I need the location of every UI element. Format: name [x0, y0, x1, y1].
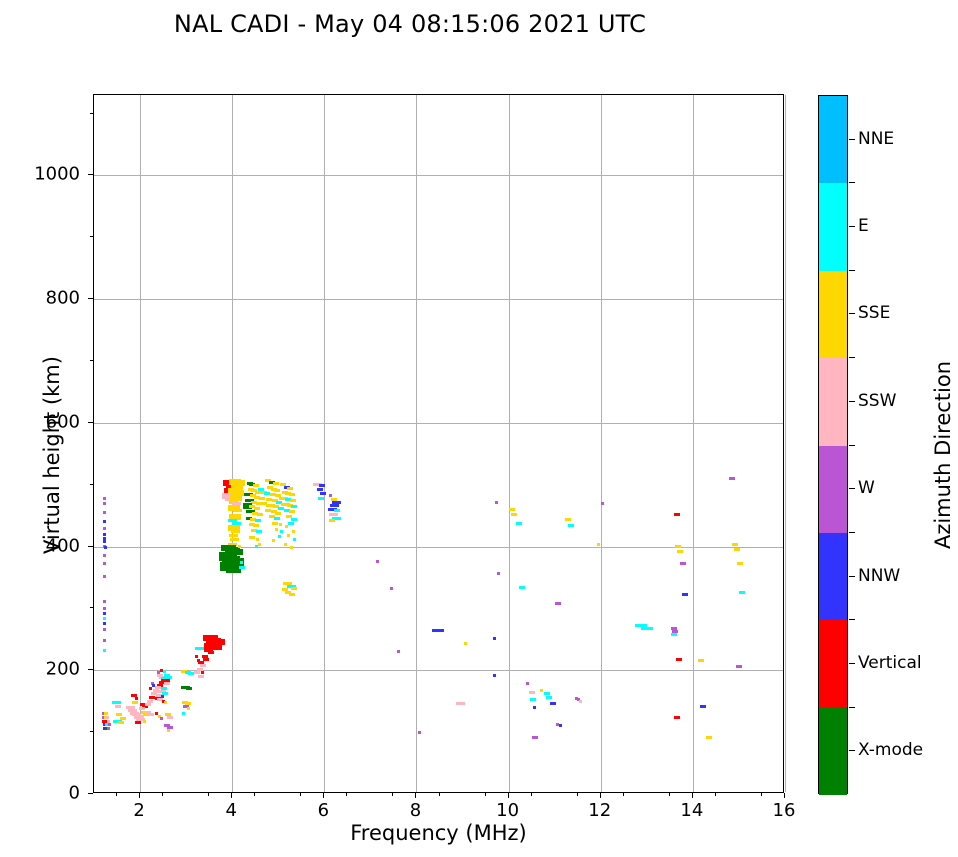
echo-marker — [203, 658, 209, 661]
page-title: NAL CADI - May 04 08:15:06 2021 UTC — [0, 10, 820, 38]
echo-marker — [197, 668, 203, 671]
echo-marker — [700, 705, 706, 708]
colorbar-tick — [849, 226, 855, 227]
echo-marker — [732, 543, 738, 546]
echo-marker — [706, 736, 712, 739]
echo-marker — [540, 689, 543, 692]
echo-marker — [680, 562, 686, 565]
x-axis-minor-tick — [623, 793, 624, 796]
x-axis-tick-label: 10 — [496, 800, 519, 821]
echo-marker — [103, 533, 106, 536]
x-axis-minor-tick — [254, 793, 255, 796]
x-axis-minor-tick — [439, 793, 440, 796]
echo-marker — [291, 518, 297, 521]
echo-marker — [106, 716, 109, 719]
echo-marker — [289, 593, 295, 596]
echo-marker — [376, 560, 379, 563]
echo-marker — [544, 692, 550, 695]
data-layer — [94, 95, 783, 792]
echo-marker — [278, 507, 284, 510]
echo-marker — [240, 561, 243, 564]
y-axis-tick — [88, 546, 93, 547]
colorbar-label-x-mode: X-mode — [858, 740, 923, 760]
y-axis-minor-tick — [90, 360, 93, 361]
echo-marker — [330, 504, 339, 507]
echo-marker — [278, 535, 281, 538]
echo-marker — [103, 622, 106, 625]
colorbar-boundary-tick — [849, 445, 855, 446]
echo-marker — [149, 687, 152, 690]
echo-marker — [464, 642, 467, 645]
echo-marker — [601, 502, 604, 505]
echo-marker — [432, 629, 444, 632]
echo-marker — [332, 501, 341, 504]
echo-marker — [671, 627, 677, 630]
echo-marker — [253, 484, 259, 487]
x-axis-tick-label: 14 — [680, 800, 703, 821]
echo-marker — [103, 537, 106, 543]
echo-marker — [259, 497, 265, 500]
echo-marker — [103, 497, 106, 500]
echo-marker — [284, 543, 287, 546]
colorbar-segment-x-mode — [819, 708, 847, 795]
y-axis-minor-tick — [90, 731, 93, 732]
colorbar-tick — [849, 663, 855, 664]
x-axis-minor-tick — [715, 793, 716, 796]
y-axis-minor-tick — [90, 236, 93, 237]
echo-marker — [256, 538, 259, 541]
echo-marker — [546, 696, 552, 699]
colorbar-tick — [849, 313, 855, 314]
echo-marker — [509, 508, 515, 511]
y-axis-tick — [88, 298, 93, 299]
colorbar-boundary-tick — [849, 270, 855, 271]
echo-marker — [565, 518, 571, 521]
echo-marker — [493, 637, 496, 640]
echo-marker — [249, 536, 255, 539]
echo-marker — [103, 502, 106, 505]
x-axis-tick — [508, 793, 509, 798]
echo-marker — [167, 726, 173, 729]
echo-marker — [138, 715, 144, 718]
x-axis-tick — [139, 793, 140, 798]
echo-marker — [293, 538, 296, 541]
echo-marker — [397, 650, 400, 653]
echo-marker — [163, 670, 166, 673]
x-axis-minor-tick — [761, 793, 762, 796]
echo-marker — [107, 720, 110, 723]
colorbar-tick — [849, 401, 855, 402]
echo-marker — [103, 575, 106, 578]
echo-marker — [255, 545, 258, 548]
x-axis-title: Frequency (MHz) — [93, 821, 784, 845]
echo-marker — [287, 487, 293, 490]
colorbar-label-vertical: Vertical — [858, 653, 922, 673]
y-axis-minor-tick — [90, 484, 93, 485]
echo-marker — [143, 720, 146, 723]
y-axis-title: Virtual height (km) — [40, 285, 64, 625]
echo-marker — [318, 497, 324, 500]
echo-marker — [115, 705, 121, 708]
colorbar-label-ssw: SSW — [858, 391, 896, 411]
x-axis-tick — [415, 793, 416, 798]
echo-marker — [597, 543, 600, 546]
y-axis-tick-label: 200 — [0, 659, 80, 680]
echo-marker — [739, 591, 745, 594]
colorbar — [818, 95, 848, 794]
echo-marker — [579, 700, 582, 703]
echo-marker — [195, 647, 204, 650]
echo-marker — [290, 499, 296, 502]
x-axis-minor-tick — [669, 793, 670, 796]
echo-marker — [164, 682, 170, 685]
y-axis-tick — [88, 793, 93, 794]
echo-marker — [320, 492, 326, 495]
echo-marker — [329, 519, 335, 522]
echo-marker — [238, 545, 241, 548]
x-axis-tick — [784, 793, 785, 798]
y-axis-tick — [88, 422, 93, 423]
echo-marker — [167, 716, 173, 719]
colorbar-tick — [849, 139, 855, 140]
echo-marker — [274, 517, 280, 520]
echo-marker — [288, 522, 294, 525]
echo-marker — [195, 655, 198, 658]
echo-marker — [107, 727, 110, 730]
echo-marker — [103, 527, 106, 530]
colorbar-tick — [849, 488, 855, 489]
colorbar-title: Azimuth Direction — [931, 285, 955, 625]
colorbar-segment-nne — [819, 96, 847, 183]
colorbar-boundary-tick — [849, 532, 855, 533]
echo-marker — [256, 530, 262, 533]
echo-marker — [418, 731, 421, 734]
echo-marker — [239, 566, 245, 569]
echo-marker — [698, 659, 704, 662]
echo-marker — [290, 546, 293, 549]
echo-marker — [530, 698, 536, 701]
echo-marker — [104, 546, 107, 549]
x-axis-tick-label: 16 — [773, 800, 796, 821]
echo-marker — [254, 507, 260, 510]
echo-marker — [334, 509, 340, 512]
echo-marker — [274, 489, 280, 492]
echo-marker — [135, 697, 138, 700]
echo-marker — [519, 586, 525, 589]
colorbar-segment-e — [819, 183, 847, 270]
echo-marker — [676, 658, 682, 661]
echo-marker — [201, 671, 204, 674]
echo-marker — [329, 513, 338, 516]
colorbar-tick — [849, 750, 855, 751]
echo-marker — [532, 736, 538, 739]
x-axis-tick-label: 6 — [318, 800, 329, 821]
echo-marker — [105, 712, 108, 715]
echo-marker — [164, 701, 167, 704]
echo-marker — [187, 707, 190, 710]
x-axis-minor-tick — [116, 793, 117, 796]
echo-marker — [568, 524, 574, 527]
echo-marker — [253, 524, 259, 527]
echo-marker — [103, 562, 106, 565]
colorbar-label-nnw: NNW — [858, 566, 900, 586]
colorbar-segment-nnw — [819, 533, 847, 620]
colorbar-tick — [849, 576, 855, 577]
echo-marker — [188, 672, 194, 675]
y-axis-minor-tick — [90, 607, 93, 608]
echo-marker — [285, 525, 288, 528]
echo-marker — [289, 510, 295, 513]
echo-marker — [258, 543, 261, 546]
x-axis-minor-tick — [392, 793, 393, 796]
colorbar-boundary-tick — [849, 619, 855, 620]
x-axis-tick — [323, 793, 324, 798]
x-axis-minor-tick — [577, 793, 578, 796]
echo-marker — [677, 550, 683, 553]
echo-marker — [103, 607, 106, 610]
echo-marker — [533, 706, 536, 709]
echo-marker — [550, 702, 556, 705]
echo-marker — [272, 522, 278, 525]
x-axis-tick-label: 8 — [410, 800, 421, 821]
echo-marker — [200, 664, 206, 667]
x-axis-minor-tick — [346, 793, 347, 796]
echo-marker — [257, 513, 263, 516]
x-axis-minor-tick — [208, 793, 209, 796]
echo-marker — [675, 545, 681, 548]
echo-marker — [529, 691, 535, 694]
echo-marker — [287, 534, 290, 537]
echo-marker — [135, 721, 141, 724]
echo-marker — [272, 539, 275, 542]
echo-marker — [279, 523, 282, 526]
colorbar-label-nne: NNE — [858, 129, 894, 149]
echo-marker — [682, 593, 688, 596]
echo-marker — [116, 713, 122, 716]
x-axis-tick-label: 2 — [133, 800, 144, 821]
echo-marker — [641, 627, 653, 630]
y-axis-tick — [88, 174, 93, 175]
echo-marker — [132, 701, 138, 704]
gridline-vertical — [785, 95, 786, 792]
echo-marker — [103, 617, 106, 620]
x-axis-tick — [692, 793, 693, 798]
echo-marker — [186, 687, 192, 690]
x-axis-minor-tick — [162, 793, 163, 796]
x-axis-tick — [231, 793, 232, 798]
echo-marker — [737, 562, 743, 565]
echo-marker — [390, 587, 393, 590]
plot-area — [93, 94, 784, 793]
echo-marker — [147, 700, 153, 703]
echo-marker — [118, 721, 124, 724]
echo-marker — [674, 716, 680, 719]
echo-marker — [145, 703, 151, 706]
x-axis-minor-tick — [531, 793, 532, 796]
y-axis-tick-label: 1000 — [0, 164, 80, 185]
echo-marker — [674, 513, 680, 516]
echo-marker — [671, 633, 677, 636]
colorbar-label-e: E — [858, 216, 869, 236]
echo-marker — [103, 649, 106, 652]
echo-marker — [103, 511, 106, 514]
echo-marker — [139, 707, 145, 710]
colorbar-boundary-tick — [849, 182, 855, 183]
echo-marker — [194, 671, 200, 674]
echo-marker — [231, 530, 240, 533]
echo-marker — [291, 587, 297, 590]
y-axis-tick — [88, 669, 93, 670]
echo-marker — [160, 717, 163, 720]
echo-marker — [559, 724, 562, 727]
echo-marker — [230, 538, 239, 541]
echo-marker — [148, 713, 154, 716]
colorbar-segment-w — [819, 446, 847, 533]
echo-marker — [273, 482, 279, 485]
echo-marker — [497, 572, 500, 575]
x-axis-tick-label: 12 — [588, 800, 611, 821]
echo-marker — [103, 554, 106, 557]
colorbar-segment-ssw — [819, 358, 847, 445]
echo-marker — [736, 665, 742, 668]
colorbar-label-sse: SSE — [858, 303, 890, 323]
echo-marker — [103, 628, 106, 631]
echo-marker — [511, 513, 517, 516]
echo-marker — [329, 494, 332, 497]
echo-marker — [208, 651, 214, 654]
echo-marker — [493, 674, 496, 677]
x-axis-tick — [600, 793, 601, 798]
ionogram-figure: NAL CADI - May 04 08:15:06 2021 UTC 2468… — [0, 0, 958, 857]
echo-marker — [291, 505, 297, 508]
echo-marker — [456, 702, 465, 705]
colorbar-segment-sse — [819, 271, 847, 358]
colorbar-boundary-tick — [849, 357, 855, 358]
echo-marker — [275, 512, 281, 515]
echo-marker — [526, 682, 529, 685]
echo-marker — [167, 729, 170, 732]
echo-marker — [289, 493, 295, 496]
echo-marker — [112, 701, 121, 704]
echo-marker — [198, 675, 204, 678]
colorbar-boundary-tick — [849, 707, 855, 708]
echo-marker — [161, 695, 164, 698]
colorbar-segment-vertical — [819, 620, 847, 707]
echo-marker — [229, 534, 238, 537]
echo-marker — [495, 501, 498, 504]
echo-marker — [103, 639, 106, 642]
echo-marker — [280, 530, 283, 533]
echo-marker — [516, 522, 522, 525]
echo-marker — [103, 520, 106, 523]
x-axis-tick-label: 4 — [225, 800, 236, 821]
echo-marker — [734, 548, 740, 551]
y-axis-tick-label: 0 — [0, 783, 80, 804]
x-axis-minor-tick — [485, 793, 486, 796]
echo-marker — [319, 484, 325, 487]
colorbar-label-w: W — [858, 478, 875, 498]
x-axis-minor-tick — [300, 793, 301, 796]
echo-marker — [166, 676, 172, 679]
echo-marker — [103, 612, 106, 615]
echo-marker — [255, 519, 261, 522]
y-axis-minor-tick — [90, 113, 93, 114]
echo-marker — [292, 530, 295, 533]
echo-marker — [233, 509, 242, 512]
echo-marker — [729, 477, 735, 480]
echo-marker — [275, 528, 278, 531]
echo-marker — [317, 488, 323, 491]
echo-marker — [108, 723, 111, 726]
echo-marker — [103, 600, 106, 603]
echo-marker — [555, 602, 561, 605]
echo-marker — [182, 712, 185, 715]
